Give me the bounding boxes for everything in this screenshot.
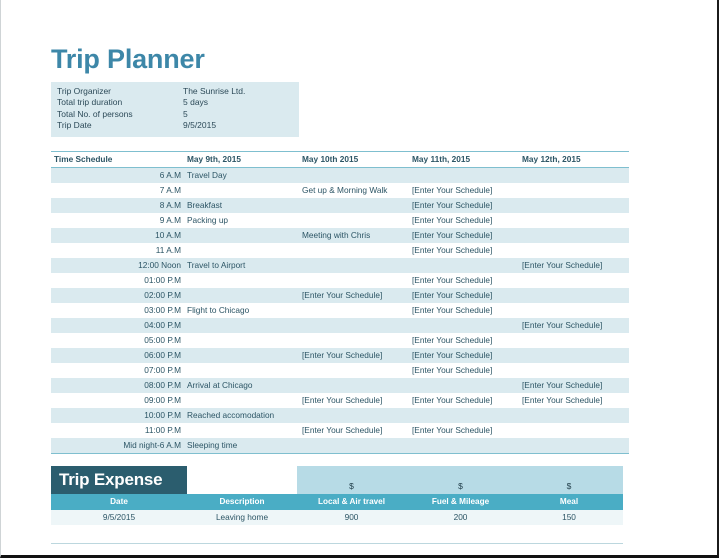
schedule-cell-time: 12:00 Noon — [51, 258, 184, 273]
info-row: Trip Date 9/5/2015 — [51, 120, 299, 131]
worksheet: Trip Planner Trip Organizer The Sunrise … — [51, 44, 651, 544]
schedule-cell-time: 7 A.M — [51, 183, 184, 198]
schedule-cell-day2[interactable] — [299, 303, 409, 318]
expense-empty-cell[interactable] — [187, 525, 297, 543]
schedule-cell-day4[interactable] — [519, 167, 629, 183]
schedule-cell-day4[interactable]: [Enter Your Schedule] — [519, 393, 629, 408]
schedule-cell-time: 10:00 P.M — [51, 408, 184, 423]
page-title: Trip Planner — [51, 44, 651, 74]
schedule-row: 11 A.M[Enter Your Schedule] — [51, 243, 629, 258]
schedule-row: 10 A.MMeeting with Chris[Enter Your Sche… — [51, 228, 629, 243]
trip-info-box: Trip Organizer The Sunrise Ltd. Total tr… — [51, 82, 299, 137]
expense-header-fuel: Fuel & Mileage — [406, 494, 515, 510]
info-label: Total No. of persons — [57, 109, 183, 120]
schedule-cell-day4[interactable] — [519, 183, 629, 198]
expense-cell-description[interactable]: Leaving home — [187, 510, 297, 526]
schedule-cell-day2[interactable] — [299, 258, 409, 273]
schedule-cell-day3[interactable]: [Enter Your Schedule] — [409, 333, 519, 348]
schedule-cell-day2[interactable]: [Enter Your Schedule] — [299, 393, 409, 408]
expense-empty-cell[interactable] — [515, 525, 623, 543]
schedule-cell-day1[interactable]: Sleeping time — [184, 438, 299, 454]
schedule-header-day2: May 10th 2015 — [299, 151, 409, 167]
schedule-cell-day2[interactable] — [299, 243, 409, 258]
schedule-table: Time Schedule May 9th, 2015 May 10th 201… — [51, 151, 629, 454]
schedule-cell-day1[interactable] — [184, 243, 299, 258]
schedule-cell-day2[interactable]: Meeting with Chris — [299, 228, 409, 243]
schedule-header-day3: May 11th, 2015 — [409, 151, 519, 167]
schedule-row: 7 A.MGet up & Morning Walk[Enter Your Sc… — [51, 183, 629, 198]
schedule-cell-day3[interactable]: [Enter Your Schedule] — [409, 273, 519, 288]
schedule-row: 09:00 P.M[Enter Your Schedule][Enter You… — [51, 393, 629, 408]
schedule-cell-day2[interactable]: [Enter Your Schedule] — [299, 423, 409, 438]
info-value[interactable]: 9/5/2015 — [183, 120, 299, 131]
schedule-cell-day2[interactable]: Get up & Morning Walk — [299, 183, 409, 198]
expense-title: Trip Expense — [51, 466, 187, 494]
schedule-header-day1: May 9th, 2015 — [184, 151, 299, 167]
currency-symbol-meal: $ — [515, 466, 623, 494]
expense-header-row: Date Description Local & Air travel Fuel… — [51, 494, 623, 510]
schedule-cell-day3[interactable]: [Enter Your Schedule] — [409, 288, 519, 303]
schedule-cell-day1[interactable]: Arrival at Chicago — [184, 378, 299, 393]
schedule-cell-day3[interactable]: [Enter Your Schedule] — [409, 213, 519, 228]
schedule-cell-day3[interactable] — [409, 378, 519, 393]
info-row: Total trip duration 5 days — [51, 97, 299, 108]
expense-row: 9/5/2015Leaving home900200150 — [51, 510, 623, 526]
schedule-cell-day4[interactable] — [519, 303, 629, 318]
schedule-row: 05:00 P.M[Enter Your Schedule] — [51, 333, 629, 348]
info-row: Trip Organizer The Sunrise Ltd. — [51, 86, 299, 97]
schedule-cell-day3[interactable]: [Enter Your Schedule] — [409, 198, 519, 213]
schedule-cell-day2[interactable] — [299, 198, 409, 213]
schedule-cell-day1[interactable] — [184, 423, 299, 438]
schedule-cell-time: 9 A.M — [51, 213, 184, 228]
schedule-cell-time: 6 A.M — [51, 167, 184, 183]
schedule-cell-day2[interactable] — [299, 167, 409, 183]
schedule-cell-day4[interactable] — [519, 228, 629, 243]
info-label: Trip Organizer — [57, 86, 183, 97]
schedule-cell-day3[interactable] — [409, 167, 519, 183]
info-label: Total trip duration — [57, 97, 183, 108]
schedule-cell-day4[interactable] — [519, 363, 629, 378]
info-value[interactable]: 5 — [183, 109, 299, 120]
schedule-cell-day3[interactable]: [Enter Your Schedule] — [409, 183, 519, 198]
schedule-cell-day4[interactable] — [519, 423, 629, 438]
schedule-cell-day3[interactable]: [Enter Your Schedule] — [409, 393, 519, 408]
schedule-cell-day1[interactable] — [184, 393, 299, 408]
schedule-cell-day1[interactable]: Travel to Airport — [184, 258, 299, 273]
schedule-cell-time: Mid night-6 A.M — [51, 438, 184, 454]
schedule-cell-day4[interactable] — [519, 273, 629, 288]
expense-empty-cell[interactable] — [51, 525, 187, 543]
currency-symbol-fuel: $ — [406, 466, 515, 494]
schedule-cell-day1[interactable] — [184, 288, 299, 303]
schedule-cell-day1[interactable]: Reached accomodation — [184, 408, 299, 423]
schedule-cell-time: 08:00 P.M — [51, 378, 184, 393]
schedule-cell-day4[interactable] — [519, 243, 629, 258]
schedule-cell-day3[interactable]: [Enter Your Schedule] — [409, 243, 519, 258]
schedule-cell-day2[interactable]: [Enter Your Schedule] — [299, 348, 409, 363]
schedule-cell-time: 11:00 P.M — [51, 423, 184, 438]
info-value[interactable]: The Sunrise Ltd. — [183, 86, 299, 97]
schedule-header-time: Time Schedule — [51, 151, 184, 167]
schedule-cell-day1[interactable] — [184, 318, 299, 333]
schedule-cell-day1[interactable]: Flight to Chicago — [184, 303, 299, 318]
schedule-cell-time: 04:00 P.M — [51, 318, 184, 333]
schedule-cell-time: 8 A.M — [51, 198, 184, 213]
expense-title-spacer — [187, 466, 297, 494]
schedule-cell-time: 09:00 P.M — [51, 393, 184, 408]
expense-empty-cell[interactable] — [297, 525, 406, 543]
expense-empty-row — [51, 525, 623, 543]
schedule-cell-day4[interactable] — [519, 408, 629, 423]
expense-title-row: Trip Expense $ $ $ — [51, 466, 623, 494]
schedule-cell-time: 06:00 P.M — [51, 348, 184, 363]
expense-cell-date[interactable]: 9/5/2015 — [51, 510, 187, 526]
schedule-cell-day1[interactable]: Travel Day — [184, 167, 299, 183]
schedule-cell-time: 11 A.M — [51, 243, 184, 258]
schedule-row: 04:00 P.M[Enter Your Schedule] — [51, 318, 629, 333]
schedule-cell-day4[interactable] — [519, 333, 629, 348]
schedule-cell-time: 07:00 P.M — [51, 363, 184, 378]
schedule-cell-day2[interactable] — [299, 378, 409, 393]
schedule-cell-time: 01:00 P.M — [51, 273, 184, 288]
schedule-cell-day1[interactable] — [184, 348, 299, 363]
schedule-row: 02:00 P.M[Enter Your Schedule][Enter You… — [51, 288, 629, 303]
schedule-row: 08:00 P.MArrival at Chicago[Enter Your S… — [51, 378, 629, 393]
schedule-cell-day3[interactable]: [Enter Your Schedule] — [409, 228, 519, 243]
schedule-cell-day3[interactable] — [409, 408, 519, 423]
expense-header-meal: Meal — [515, 494, 623, 510]
schedule-cell-day2[interactable] — [299, 273, 409, 288]
schedule-cell-day4[interactable]: [Enter Your Schedule] — [519, 378, 629, 393]
schedule-cell-day2[interactable] — [299, 363, 409, 378]
schedule-cell-day1[interactable] — [184, 333, 299, 348]
expense-cell-meal[interactable]: 150 — [515, 510, 623, 526]
schedule-row: Mid night-6 A.MSleeping time — [51, 438, 629, 454]
schedule-cell-day2[interactable] — [299, 438, 409, 454]
expense-table: Date Description Local & Air travel Fuel… — [51, 494, 623, 544]
schedule-cell-time: 05:00 P.M — [51, 333, 184, 348]
expense-cell-travel[interactable]: 900 — [297, 510, 406, 526]
schedule-cell-day4[interactable] — [519, 288, 629, 303]
schedule-row: 6 A.MTravel Day — [51, 167, 629, 183]
schedule-cell-day3[interactable] — [409, 438, 519, 454]
schedule-cell-day1[interactable]: Packing up — [184, 213, 299, 228]
info-row: Total No. of persons 5 — [51, 109, 299, 120]
expense-header-date: Date — [51, 494, 187, 510]
schedule-cell-day1[interactable] — [184, 183, 299, 198]
schedule-cell-time: 03:00 P.M — [51, 303, 184, 318]
page-canvas: Trip Planner Trip Organizer The Sunrise … — [0, 0, 719, 558]
expense-section: Trip Expense $ $ $ Date Description Loca… — [51, 466, 651, 544]
schedule-cell-day4[interactable] — [519, 348, 629, 363]
schedule-cell-time: 02:00 P.M — [51, 288, 184, 303]
expense-empty-cell[interactable] — [406, 525, 515, 543]
schedule-cell-day2[interactable] — [299, 318, 409, 333]
schedule-row: 03:00 P.MFlight to Chicago[Enter Your Sc… — [51, 303, 629, 318]
expense-cell-fuel[interactable]: 200 — [406, 510, 515, 526]
currency-symbol-travel: $ — [297, 466, 406, 494]
schedule-cell-day3[interactable] — [409, 318, 519, 333]
expense-header-description: Description — [187, 494, 297, 510]
schedule-cell-day2[interactable] — [299, 408, 409, 423]
schedule-row: 01:00 P.M[Enter Your Schedule] — [51, 273, 629, 288]
schedule-cell-day1[interactable] — [184, 228, 299, 243]
schedule-cell-day1[interactable] — [184, 363, 299, 378]
schedule-cell-day4[interactable] — [519, 198, 629, 213]
schedule-cell-day3[interactable]: [Enter Your Schedule] — [409, 348, 519, 363]
schedule-row: 10:00 P.MReached accomodation — [51, 408, 629, 423]
schedule-header-day4: May 12th, 2015 — [519, 151, 629, 167]
schedule-cell-day2[interactable] — [299, 333, 409, 348]
expense-header-travel: Local & Air travel — [297, 494, 406, 510]
schedule-cell-day2[interactable]: [Enter Your Schedule] — [299, 288, 409, 303]
info-label: Trip Date — [57, 120, 183, 131]
schedule-cell-day1[interactable] — [184, 273, 299, 288]
schedule-row: 8 A.MBreakfast[Enter Your Schedule] — [51, 198, 629, 213]
schedule-row: 12:00 NoonTravel to Airport[Enter Your S… — [51, 258, 629, 273]
schedule-cell-day3[interactable]: [Enter Your Schedule] — [409, 423, 519, 438]
schedule-cell-day4[interactable] — [519, 213, 629, 228]
schedule-cell-day2[interactable] — [299, 213, 409, 228]
schedule-row: 06:00 P.M[Enter Your Schedule][Enter You… — [51, 348, 629, 363]
schedule-row: 11:00 P.M[Enter Your Schedule][Enter You… — [51, 423, 629, 438]
schedule-cell-day3[interactable]: [Enter Your Schedule] — [409, 303, 519, 318]
schedule-cell-day1[interactable]: Breakfast — [184, 198, 299, 213]
schedule-header-row: Time Schedule May 9th, 2015 May 10th 201… — [51, 151, 629, 167]
schedule-cell-day4[interactable]: [Enter Your Schedule] — [519, 258, 629, 273]
schedule-row: 07:00 P.M[Enter Your Schedule] — [51, 363, 629, 378]
schedule-cell-day3[interactable]: [Enter Your Schedule] — [409, 363, 519, 378]
schedule-cell-day4[interactable] — [519, 438, 629, 454]
info-value[interactable]: 5 days — [183, 97, 299, 108]
schedule-row: 9 A.MPacking up[Enter Your Schedule] — [51, 213, 629, 228]
schedule-cell-day3[interactable] — [409, 258, 519, 273]
schedule-cell-time: 10 A.M — [51, 228, 184, 243]
schedule-cell-day4[interactable]: [Enter Your Schedule] — [519, 318, 629, 333]
